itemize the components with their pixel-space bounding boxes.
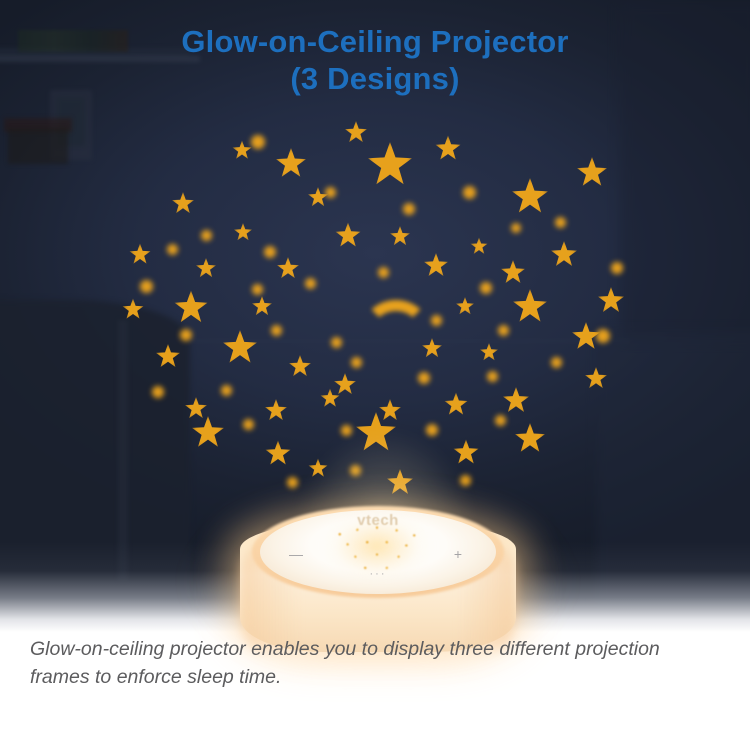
right-furniture-silhouette — [596, 330, 750, 610]
projected-star — [503, 387, 529, 413]
projected-dot — [331, 337, 342, 348]
projected-dot — [378, 267, 389, 278]
projected-dot — [167, 244, 178, 255]
projected-dot — [305, 278, 316, 289]
projected-star — [501, 260, 525, 284]
projected-dot — [426, 424, 438, 436]
projected-dot — [252, 284, 263, 295]
projected-star — [577, 157, 607, 187]
projected-star — [445, 393, 468, 416]
caption-line-1: Glow-on-ceiling projector enables you to… — [30, 638, 570, 660]
projected-star — [233, 141, 252, 160]
volume-minus-button[interactable]: — — [288, 546, 304, 562]
projected-star — [551, 241, 577, 267]
projected-dot — [350, 465, 361, 476]
projected-star — [192, 416, 224, 448]
projected-star — [130, 244, 151, 265]
title-line-2: (3 Designs) — [0, 61, 750, 98]
vtech-logo: vtech — [232, 512, 524, 529]
projected-star — [513, 289, 547, 323]
projected-star — [345, 121, 367, 143]
title-line-1: Glow-on-Ceiling Projector — [0, 24, 750, 61]
projected-star — [266, 441, 291, 466]
projected-dot — [431, 315, 442, 326]
projected-star — [223, 330, 257, 364]
toy-house-silhouette — [8, 128, 68, 164]
projected-star — [277, 257, 299, 279]
projected-dot — [140, 280, 153, 293]
projected-dot — [403, 203, 415, 215]
projected-dot — [243, 419, 254, 430]
projected-star — [172, 192, 194, 214]
projected-star — [368, 142, 412, 186]
page-title: Glow-on-Ceiling Projector (3 Designs) — [0, 24, 750, 97]
crib-silhouette — [0, 300, 190, 600]
projected-dot — [498, 325, 509, 336]
projected-dot — [351, 357, 362, 368]
projected-star — [436, 136, 461, 161]
projected-star — [515, 423, 545, 453]
projected-dot — [418, 372, 430, 384]
projected-dot — [251, 135, 265, 149]
projected-dot — [551, 357, 562, 368]
projected-star — [379, 399, 401, 421]
projected-star — [321, 389, 340, 408]
projected-dot — [495, 415, 506, 426]
projected-star — [471, 238, 488, 255]
projector-device: vtech — + ··· — [232, 498, 524, 638]
projected-star — [456, 297, 474, 315]
projected-dot — [341, 425, 352, 436]
product-feature-image: Glow-on-Ceiling Projector (3 Designs) vt… — [0, 0, 750, 750]
projected-dot — [201, 230, 212, 241]
projected-star — [175, 291, 208, 324]
projected-dot — [325, 187, 336, 198]
wall-seam-line — [150, 340, 630, 342]
projected-moon — [362, 300, 430, 362]
projected-star — [334, 373, 356, 395]
projected-star — [309, 459, 328, 478]
projected-dot — [264, 246, 276, 258]
projected-star — [265, 399, 287, 421]
projected-star — [390, 226, 410, 246]
projected-star — [480, 343, 498, 361]
crib-rail-silhouette — [118, 320, 128, 580]
projected-star — [454, 440, 479, 465]
projected-dot — [511, 223, 521, 233]
projected-star — [308, 187, 328, 207]
projected-star — [276, 148, 306, 178]
projected-star — [252, 296, 272, 316]
projected-star — [196, 258, 216, 278]
mode-dots-button[interactable]: ··· — [232, 568, 524, 580]
projected-star — [424, 253, 448, 277]
projected-dot — [487, 371, 498, 382]
projected-star — [356, 412, 396, 452]
projected-dot — [463, 186, 476, 199]
projected-star — [336, 223, 361, 248]
volume-plus-button[interactable]: + — [450, 546, 466, 562]
feature-caption: Glow-on-ceiling projector enables you to… — [30, 636, 700, 691]
projected-star — [234, 223, 252, 241]
projected-star — [512, 178, 548, 214]
projected-dot — [221, 385, 232, 396]
projected-star — [289, 355, 311, 377]
projected-dot — [271, 325, 282, 336]
projected-dot — [555, 217, 566, 228]
projected-dot — [480, 282, 492, 294]
